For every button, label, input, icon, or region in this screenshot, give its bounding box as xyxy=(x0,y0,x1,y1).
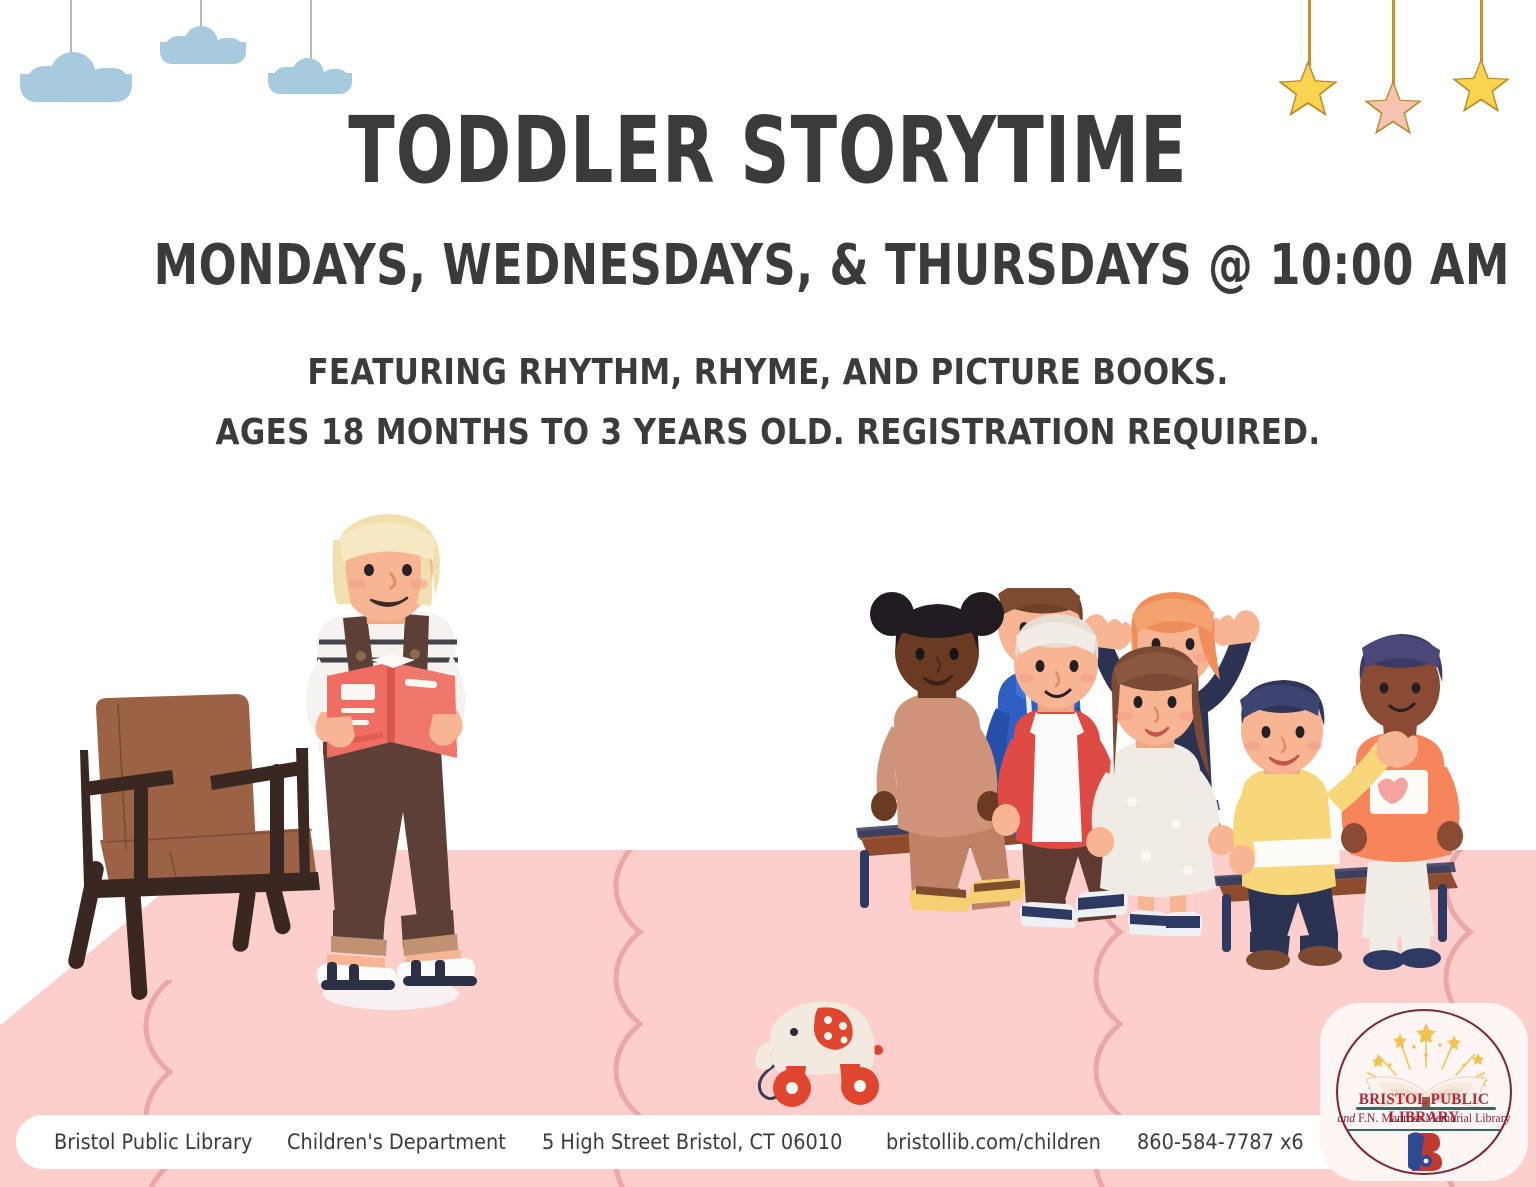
footer-department: Children's Department xyxy=(287,1130,506,1154)
star-string-2 xyxy=(1392,0,1395,86)
logo-library-subname: and F.N. Manross Memorial Library xyxy=(1325,1111,1523,1126)
cloud-left-icon xyxy=(20,52,132,102)
logo-subname-rest: F.N. Manross Memorial Library xyxy=(1355,1111,1510,1125)
star-middle-icon xyxy=(1364,80,1422,136)
logo-monogram xyxy=(1320,1129,1528,1179)
children-group-illustration xyxy=(850,588,1480,988)
poster-canvas: TODDLER STORYTIME MONDAYS, WEDNESDAYS, &… xyxy=(0,0,1536,1187)
footer-library-name: Bristol Public Library xyxy=(54,1130,252,1154)
cloud-right-icon xyxy=(268,58,352,94)
footer-website[interactable]: bristollib.com/children xyxy=(886,1130,1101,1154)
footer-bar: Bristol Public Library Children's Depart… xyxy=(16,1115,1356,1169)
cloud-string-3 xyxy=(310,0,312,60)
schedule-subtitle: MONDAYS, WEDNESDAYS, & THURSDAYS @ 10:00… xyxy=(154,238,1383,294)
star-string-1 xyxy=(1308,0,1311,66)
footer-phone[interactable]: 860-584-7787 x6 xyxy=(1137,1130,1304,1154)
logo-subname-and: and xyxy=(1337,1111,1355,1125)
page-title: TODDLER STORYTIME xyxy=(200,105,1337,197)
cloud-middle-icon xyxy=(160,26,246,64)
storyteller-illustration xyxy=(265,512,515,1022)
library-logo: BRISTOL PUBLIC LIBRARY and F.N. Manross … xyxy=(1320,1003,1528,1181)
elephant-pull-toy xyxy=(722,988,922,1133)
star-right-icon xyxy=(1452,58,1510,114)
cloud-string-1 xyxy=(70,0,72,58)
footer-address: 5 High Street Bristol, CT 06010 xyxy=(542,1130,842,1154)
star-string-3 xyxy=(1480,0,1483,64)
description-line-2: AGES 18 MONTHS TO 3 YEARS OLD. REGISTRAT… xyxy=(108,412,1429,453)
description-line-1: FEATURING RHYTHM, RHYME, AND PICTURE BOO… xyxy=(108,352,1429,393)
